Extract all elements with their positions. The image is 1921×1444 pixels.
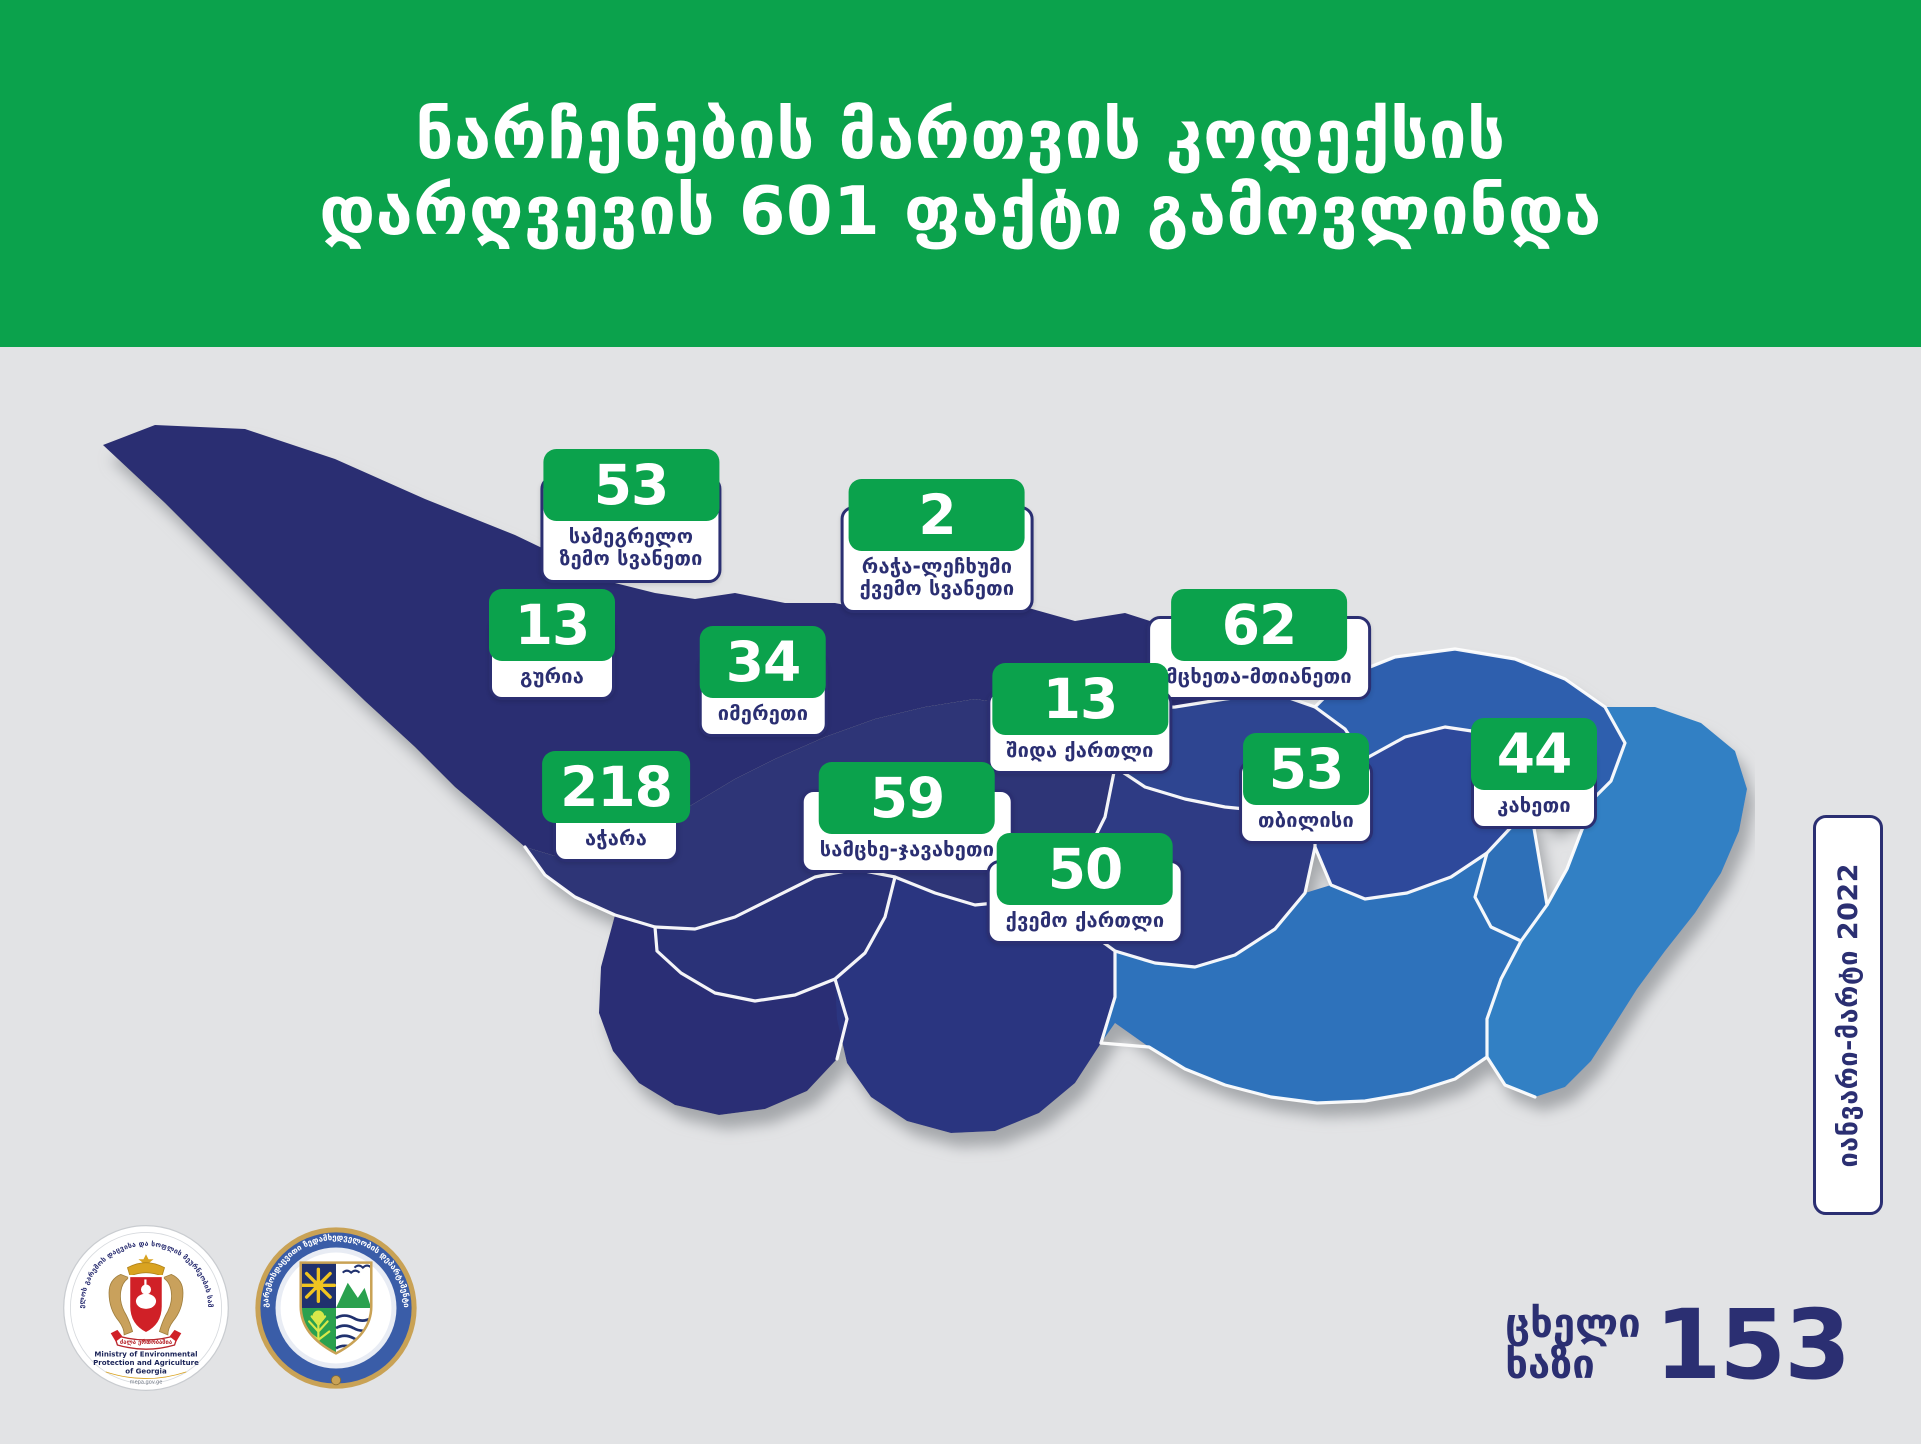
- marker-adjara[interactable]: 218 აჭარა: [553, 778, 679, 862]
- marker-racha-lechkhumi[interactable]: 2 რაჭა-ლეჩხუმი ქვემო სვანეთი: [841, 506, 1034, 613]
- marker-tbilisi[interactable]: 53 თბილისი: [1239, 760, 1373, 844]
- marker-region-name: აჭარა: [572, 827, 660, 849]
- marker-region-name: მცხეთა-მთიანეთი: [1166, 665, 1352, 687]
- marker-card: 62 მცხეთა-მთიანეთი: [1147, 616, 1371, 700]
- page-title-line-2: დარღვევის 601 ფაქტი გამოვლინდა: [319, 174, 1602, 249]
- marker-value-badge: 50: [997, 833, 1173, 905]
- marker-shida-kartli[interactable]: 13 შიდა ქართლი: [987, 690, 1172, 774]
- marker-value-badge: 59: [819, 762, 995, 834]
- marker-region-name: რაჭა-ლეჩხუმი ქვემო სვანეთი: [860, 555, 1015, 600]
- hotline-line-1: ცხელი: [1505, 1304, 1640, 1345]
- marker-card: 2 რაჭა-ლეჩხუმი ქვემო სვანეთი: [841, 506, 1034, 613]
- marker-region-name: ქვემო ქართლი: [1006, 909, 1165, 931]
- marker-samtskhe-javakheti[interactable]: 59 სამცხე-ჯავახეთი: [801, 789, 1014, 873]
- marker-card: 50 ქვემო ქართლი: [987, 860, 1184, 944]
- svg-text:ძალა ერთობაშია: ძალა ერთობაშია: [120, 1339, 172, 1346]
- marker-samegrelo-zemo-svaneti[interactable]: 53 სამეგრელო ზემო სვანეთი: [540, 476, 721, 583]
- infographic-page: ნარჩენების მართვის კოდექსის დარღვევის 60…: [0, 0, 1921, 1444]
- marker-region-name: შიდა ქართლი: [1006, 739, 1153, 761]
- marker-value-badge: 13: [489, 589, 615, 661]
- hotline-block: ცხელი ხაზი 153: [1505, 1302, 1849, 1388]
- marker-card: 44 კახეთი: [1471, 745, 1597, 829]
- marker-value-badge: 53: [543, 449, 719, 521]
- ministry-site: mepa.gov.ge: [130, 1380, 163, 1386]
- marker-region-name: სამეგრელო ზემო სვანეთი: [559, 525, 702, 570]
- marker-imereti[interactable]: 34 იმერეთი: [699, 653, 828, 737]
- marker-region-name: გურია: [508, 665, 596, 687]
- hotline-number: 153: [1655, 1302, 1849, 1388]
- environmental-supervision-logo: გარემოსდაცვითი ზედამხედველობის დეპარტამე…: [252, 1224, 420, 1392]
- ministry-logo: საქართველოს გარემოს დაცვისა და სოფლის მე…: [62, 1224, 230, 1392]
- page-title-line-1: ნარჩენების მართვის კოდექსის: [415, 98, 1505, 173]
- marker-card: 13 გურია: [489, 616, 615, 700]
- hotline-words: ცხელი ხაზი: [1505, 1304, 1640, 1386]
- footer: საქართველოს გარემოს დაცვისა და სოფლის მე…: [0, 1194, 1921, 1444]
- marker-value-badge: 218: [542, 751, 690, 823]
- marker-region-name: იმერეთი: [718, 702, 809, 724]
- marker-card: 13 შიდა ქართლი: [987, 690, 1172, 774]
- marker-kvemo-kartli[interactable]: 50 ქვემო ქართლი: [987, 860, 1184, 944]
- marker-card: 218 აჭარა: [553, 778, 679, 862]
- marker-region-name: კახეთი: [1490, 794, 1578, 816]
- marker-card: 53 სამეგრელო ზემო სვანეთი: [540, 476, 721, 583]
- marker-region-name: თბილისი: [1258, 809, 1354, 831]
- marker-value-badge: 34: [700, 626, 826, 698]
- marker-guria[interactable]: 13 გურია: [489, 616, 615, 700]
- date-range-tag: იანვარი-მარტი 2022: [1813, 815, 1883, 1215]
- marker-value-badge: 44: [1471, 718, 1597, 790]
- date-range-text: იანვარი-მარტი 2022: [1833, 863, 1864, 1168]
- marker-region-name: სამცხე-ჯავახეთი: [820, 838, 995, 860]
- marker-value-badge: 2: [849, 479, 1025, 551]
- ministry-en-line3: of Georgia: [125, 1367, 167, 1376]
- marker-value-badge: 13: [992, 663, 1168, 735]
- marker-card: 53 თბილისი: [1239, 760, 1373, 844]
- marker-mtskheta-mtianeti[interactable]: 62 მცხეთა-მთიანეთი: [1147, 616, 1371, 700]
- hotline-line-2: ხაზი: [1505, 1345, 1640, 1386]
- marker-card: 34 იმერეთი: [699, 653, 828, 737]
- marker-kakheti[interactable]: 44 კახეთი: [1471, 745, 1597, 829]
- header-banner: ნარჩენების მართვის კოდექსის დარღვევის 60…: [0, 0, 1921, 347]
- marker-value-badge: 62: [1171, 589, 1347, 661]
- marker-card: 59 სამცხე-ჯავახეთი: [801, 789, 1014, 873]
- logo-group: საქართველოს გარემოს დაცვისა და სოფლის მე…: [62, 1224, 420, 1392]
- marker-value-badge: 53: [1243, 733, 1369, 805]
